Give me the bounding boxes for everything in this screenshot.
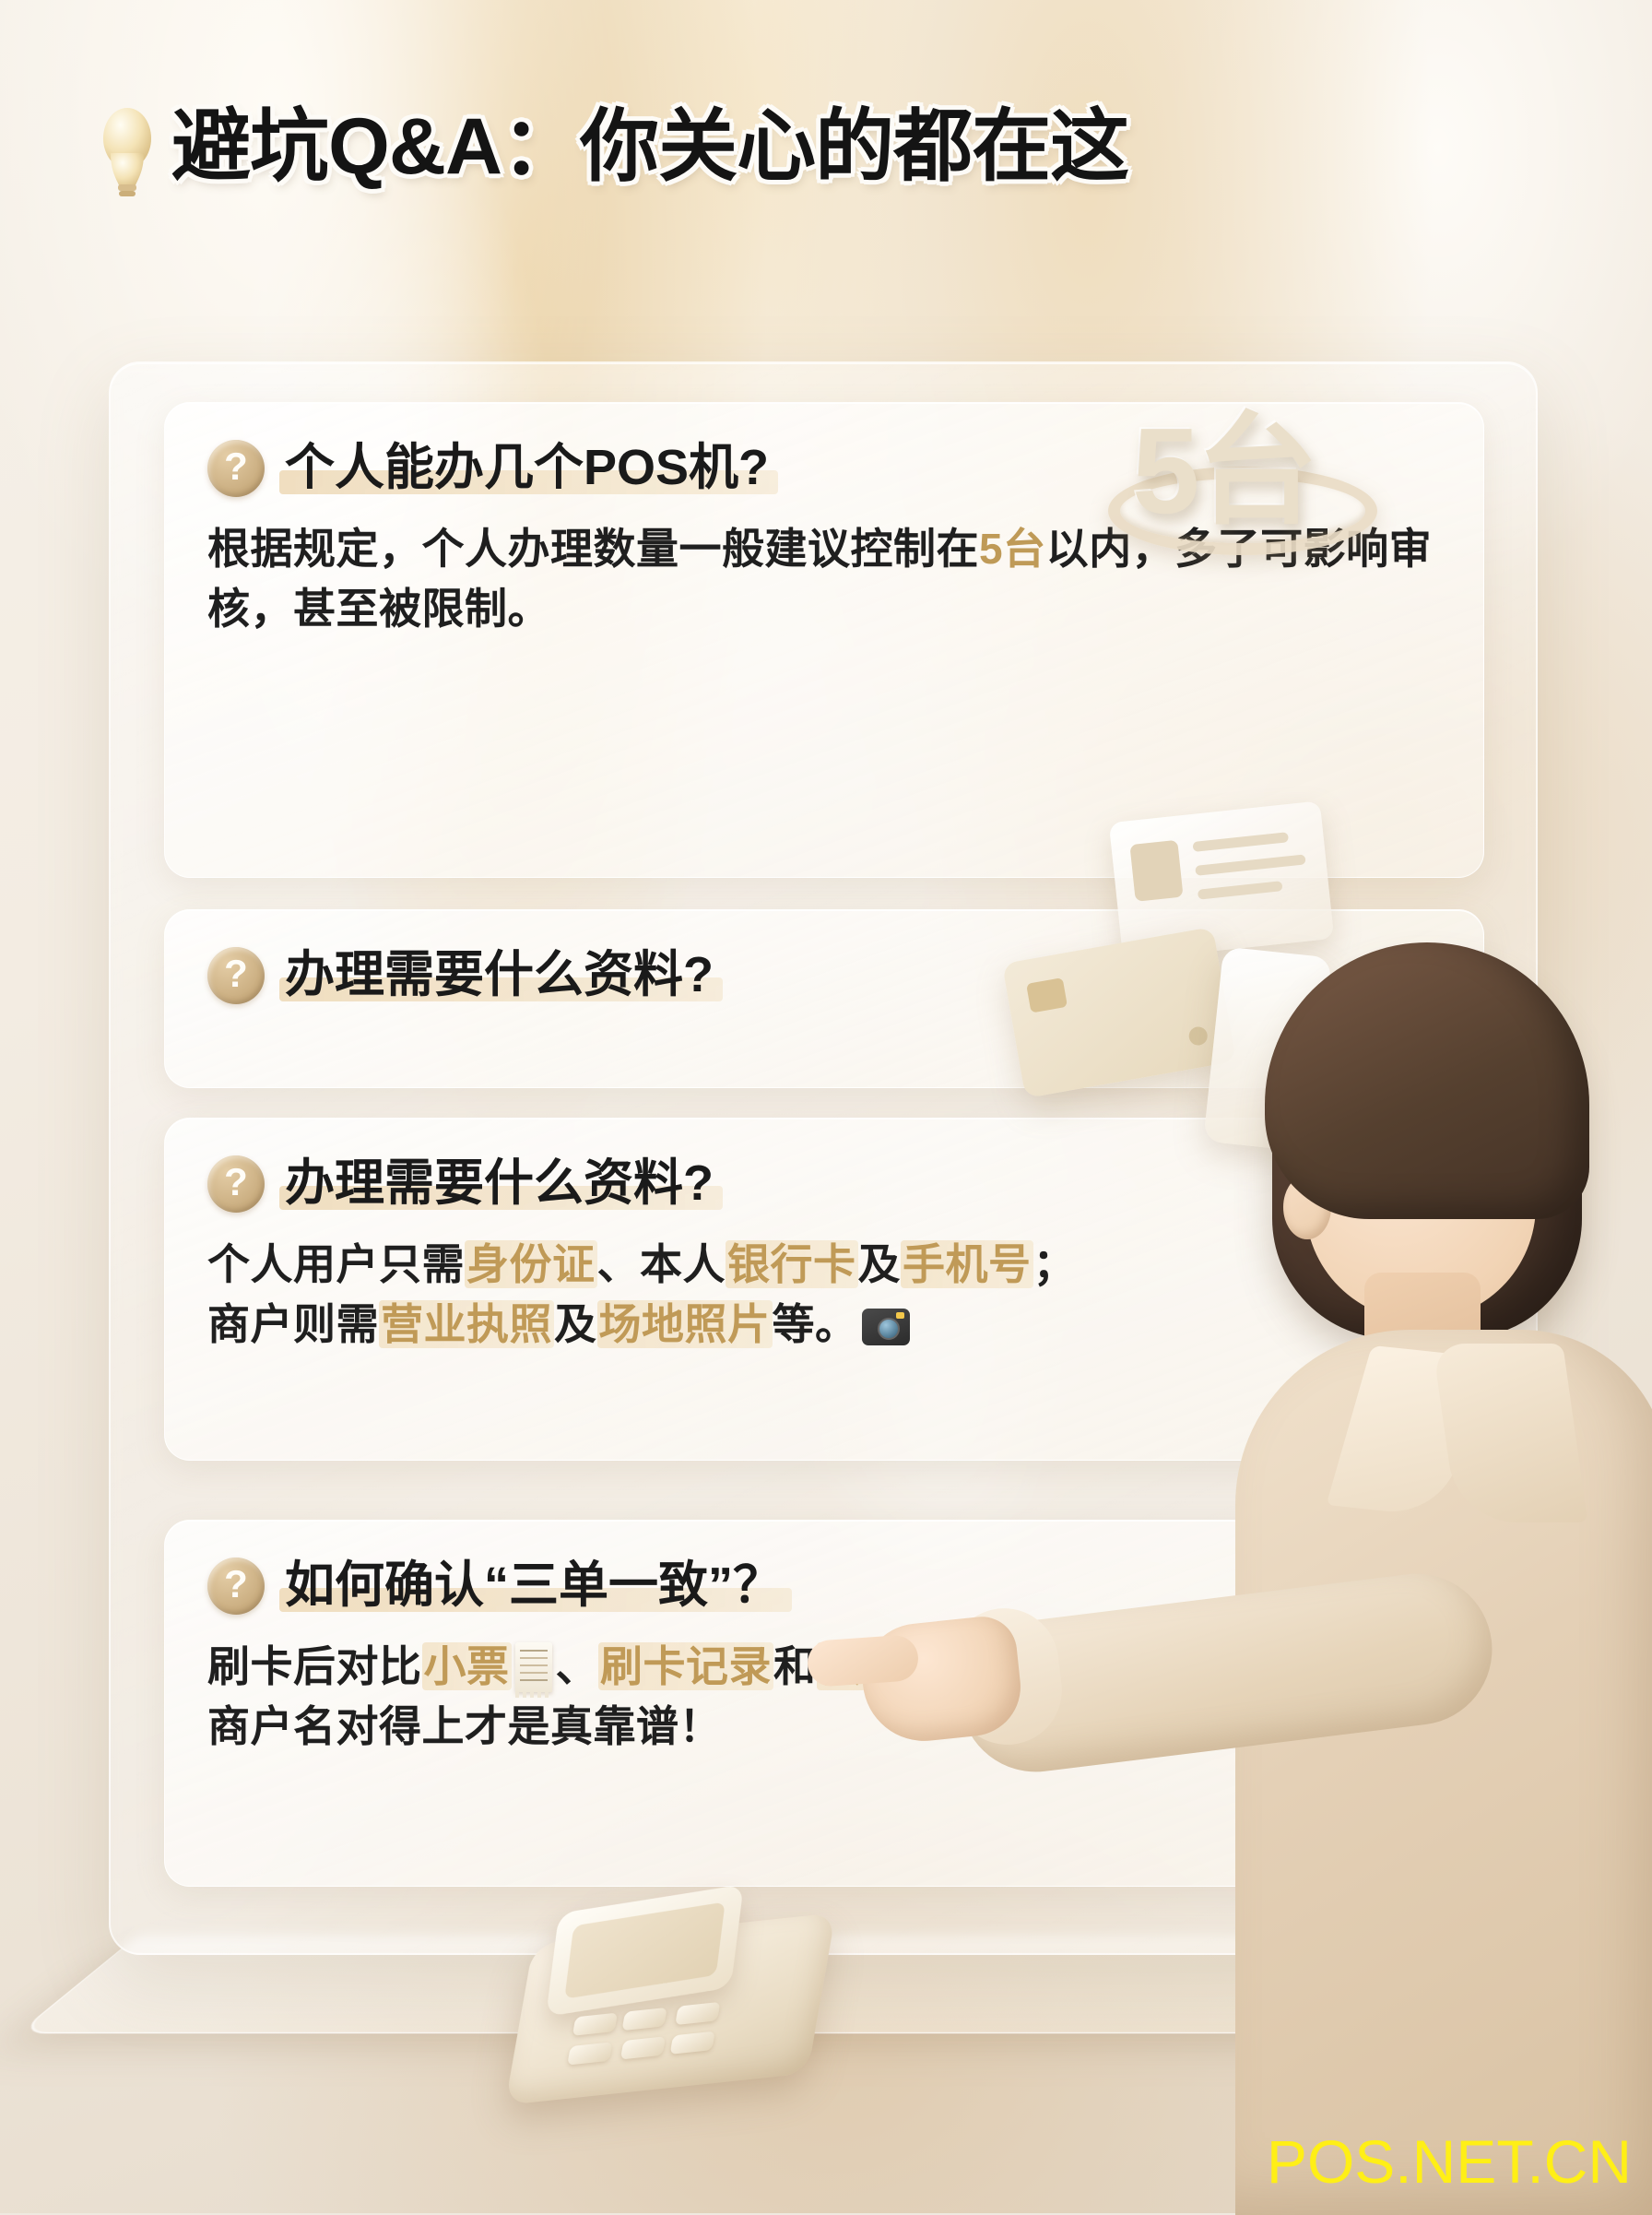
question-mark-badge-icon: ? [207, 1155, 265, 1213]
highlight-bank-card: 银行卡 [726, 1240, 858, 1288]
body-text-segment: ， [992, 1642, 1035, 1690]
qa-card-2-header: ? 办理需要什么资料? [165, 910, 1483, 1004]
highlight-id-card: 身份证 [465, 1240, 597, 1288]
body-text-segment: 商户则需 [207, 1300, 379, 1348]
highlight-count: 5台 [979, 525, 1046, 573]
page-title: 避坑Q&A：你关心的都在这 [171, 107, 1128, 186]
qa-card-4-question: 如何确认“三单一致”？ [285, 1558, 783, 1613]
qa-card-1-header: ? 个人能办几个POS机? [165, 403, 1483, 497]
question-mark-badge-icon: ? [207, 1558, 265, 1615]
qa-card-2[interactable]: ? 办理需要什么资料? [164, 909, 1484, 1088]
body-text-segment: 等。 [773, 1300, 858, 1348]
question-mark-badge-icon: ? [207, 440, 265, 497]
lightbulb-icon [92, 96, 162, 197]
body-text-segment: 、本人 [597, 1240, 726, 1288]
qa-card-3-header: ? 办理需要什么资料? [165, 1119, 1483, 1213]
highlight-business-license: 营业执照 [379, 1300, 554, 1348]
qa-card-4[interactable]: ? 如何确认“三单一致”？ 刷卡后对比小票、刷卡记录和银行流水， 商户名对得上才… [164, 1520, 1484, 1887]
highlight-bank-statement: 银行流水 [817, 1642, 992, 1690]
qa-card-3-body: 个人用户只需身份证、本人银行卡及手机号； 商户则需营业执照及场地照片等。 [165, 1213, 1483, 1356]
camera-icon [862, 1309, 910, 1345]
qa-card-1-question: 个人能办几个POS机? [285, 441, 769, 495]
body-text-segment: 及 [554, 1300, 597, 1348]
qa-card-1[interactable]: ? 个人能办几个POS机? 根据规定，个人办理数量一般建议控制在5台以内，多了可… [164, 402, 1484, 878]
body-text-segment: 及 [858, 1240, 902, 1288]
body-text-segment: 刷卡后对比 [207, 1642, 422, 1690]
qa-card-1-body: 根据规定，个人办理数量一般建议控制在5台以内，多了可影响审核，甚至被限制。 [165, 497, 1483, 640]
qa-card-2-question: 办理需要什么资料? [285, 948, 714, 1002]
body-text-segment: 个人用户只需 [207, 1240, 465, 1288]
body-text-segment: 商户名对得上才是真靠谱！ [207, 1702, 722, 1750]
highlight-site-photo: 场地照片 [597, 1300, 773, 1348]
highlight-receipt: 小票 [422, 1642, 512, 1690]
body-text-segment: 根据规定，个人办理数量一般建议控制在 [207, 525, 979, 573]
body-text-segment: 、 [556, 1642, 599, 1690]
highlight-phone-number: 手机号 [901, 1240, 1033, 1288]
body-text-segment: 和 [773, 1642, 817, 1690]
qa-card-4-header: ? 如何确认“三单一致”？ [165, 1521, 1483, 1615]
qa-card-4-body: 刷卡后对比小票、刷卡记录和银行流水， 商户名对得上才是真靠谱！ [165, 1615, 1483, 1758]
page-title-row: 避坑Q&A：你关心的都在这 [92, 96, 1128, 197]
body-text-segment: ； [1033, 1240, 1077, 1288]
site-watermark: POS.NET.CN [1267, 2126, 1632, 2197]
qa-card-3-question: 办理需要什么资料? [285, 1156, 714, 1211]
qa-card-3[interactable]: ? 办理需要什么资料? 个人用户只需身份证、本人银行卡及手机号； 商户则需营业执… [164, 1118, 1484, 1461]
highlight-swipe-record: 刷卡记录 [598, 1642, 773, 1690]
question-mark-badge-icon: ? [207, 947, 265, 1004]
receipt-icon [515, 1642, 552, 1692]
